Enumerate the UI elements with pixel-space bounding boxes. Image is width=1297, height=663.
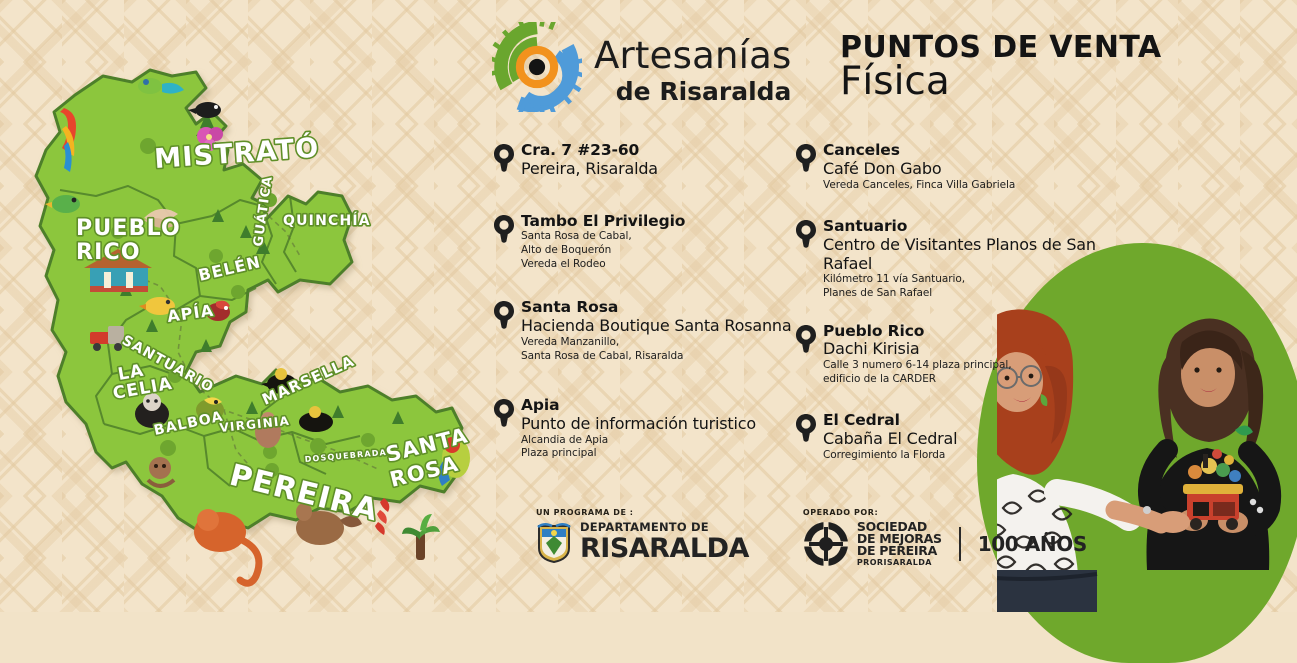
location-address-line: Alto de Boquerón [521, 244, 685, 258]
location-address: Calle 3 numero 6-14 plaza principal,edif… [823, 359, 1012, 386]
map-pin-icon [796, 325, 816, 353]
program-caption: UN PROGRAMA DE : [536, 508, 749, 517]
location-city: Tambo El Privilegio [521, 213, 685, 231]
operator-anniversary: 100 AÑOS [978, 532, 1087, 556]
location-address-line: Santa Rosa de Cabal, Risaralda [521, 350, 791, 364]
location-address-line: Vereda Canceles, Finca Villa Gabriela [823, 179, 1015, 193]
location-address: Kilómetro 11 vía Santuario,Planes de San… [823, 273, 1136, 300]
location-address: Vereda Canceles, Finca Villa Gabriela [823, 179, 1015, 193]
location-item[interactable]: Santa RosaHacienda Boutique Santa Rosann… [494, 299, 794, 363]
location-city: Santuario [823, 218, 1136, 236]
location-item[interactable]: CancelesCafé Don GaboVereda Canceles, Fi… [796, 142, 1136, 192]
location-address: Corregimiento la Florda [823, 449, 957, 463]
location-address-line: Corregimiento la Florda [823, 449, 957, 463]
map-pin-icon [494, 215, 514, 243]
location-item[interactable]: Tambo El PrivilegioSanta Rosa de Cabal,A… [494, 213, 794, 272]
operator-logo-group: OPERADO POR: SOCIEDAD DE MEJORAS DE PERE… [803, 508, 1087, 567]
map-pin-icon [796, 220, 816, 248]
program-logo-group: UN PROGRAMA DE : DEPARTAMENTO DE RISARAL… [536, 508, 749, 563]
location-city: Pueblo Rico [823, 323, 1012, 341]
map-pin-icon [796, 414, 816, 442]
locations-column-left: Cra. 7 #23-60Pereira, RisaraldaTambo El … [494, 142, 794, 461]
location-item[interactable]: SantuarioCentro de Visitantes Planos de … [796, 218, 1136, 300]
location-city: El Cedral [823, 412, 957, 430]
location-address: Vereda Manzanillo,Santa Rosa de Cabal, R… [521, 336, 791, 363]
location-address-line: Santa Rosa de Cabal, [521, 230, 685, 244]
location-place: Café Don Gabo [823, 160, 1015, 179]
risaralda-coat-of-arms-icon [536, 521, 572, 563]
map-label-rico: RICO [76, 240, 141, 265]
location-item[interactable]: ApiaPunto de información turisticoAlcand… [494, 397, 794, 461]
operator-line3: DE PEREIRA [857, 545, 942, 557]
location-item[interactable]: Pueblo RicoDachi KirisiaCalle 3 numero 6… [796, 323, 1136, 387]
location-address-line: Calle 3 numero 6-14 plaza principal, [823, 359, 1012, 373]
locations-column-right: CancelesCafé Don GaboVereda Canceles, Fi… [796, 142, 1136, 462]
location-address-line: Plaza principal [521, 447, 756, 461]
operator-line4: PRORISARALDA [857, 559, 942, 567]
map-pin-icon [494, 399, 514, 427]
risaralda-map: MISTRATÓPUEBLORICOGUÁTICAQUINCHÍABELÉNAP… [0, 0, 500, 612]
location-city: Cra. 7 #23-60 [521, 142, 658, 160]
footer-logos: UN PROGRAMA DE : DEPARTAMENTO DE RISARAL… [536, 508, 1087, 567]
location-place: Hacienda Boutique Santa Rosanna [521, 317, 791, 336]
location-place: Cabaña El Cedral [823, 430, 957, 449]
map-pin-icon [494, 144, 514, 172]
location-place: Pereira, Risaralda [521, 160, 658, 179]
location-address-line: Planes de San Rafael [823, 287, 1136, 301]
brand-lockup: Artesanías de Risaralda [492, 22, 791, 112]
location-address-line: edificio de la CARDER [823, 373, 1012, 387]
location-city: Apia [521, 397, 756, 415]
location-address-line: Vereda Manzanillo, [521, 336, 791, 350]
location-item[interactable]: El CedralCabaña El CedralCorregimiento l… [796, 412, 1136, 462]
location-city: Santa Rosa [521, 299, 791, 317]
location-address-line: Vereda el Rodeo [521, 258, 685, 272]
map-label-pueblo: PUEBLO [76, 216, 181, 241]
program-line2: RISARALDA [580, 535, 749, 562]
location-address-line: Alcandia de Apia [521, 434, 756, 448]
page-title: PUNTOS DE VENTA Física [840, 32, 1161, 101]
sociedad-mejoras-wheel-icon [803, 521, 849, 567]
location-place: Centro de Visitantes Planos de San Rafae… [823, 236, 1136, 273]
operator-caption: OPERADO POR: [803, 508, 1087, 517]
location-address: Santa Rosa de Cabal,Alto de BoquerónVere… [521, 230, 685, 271]
brand-subtitle: de Risaralda [594, 79, 791, 104]
location-city: Canceles [823, 142, 1015, 160]
footer-divider [959, 527, 961, 561]
location-place: Dachi Kirisia [823, 340, 1012, 359]
headline-sub: Física [840, 62, 1161, 101]
artesanias-spiral-eye-logo-icon [492, 22, 582, 112]
map-pin-icon [494, 301, 514, 329]
map-label-quinch-a: QUINCHÍA [283, 212, 371, 229]
location-address: Alcandia de ApiaPlaza principal [521, 434, 756, 461]
location-item[interactable]: Cra. 7 #23-60Pereira, Risaralda [494, 142, 794, 179]
location-address-line: Kilómetro 11 vía Santuario, [823, 273, 1136, 287]
location-place: Punto de información turistico [521, 415, 756, 434]
brand-title: Artesanías [594, 37, 791, 74]
map-pin-icon [796, 144, 816, 172]
